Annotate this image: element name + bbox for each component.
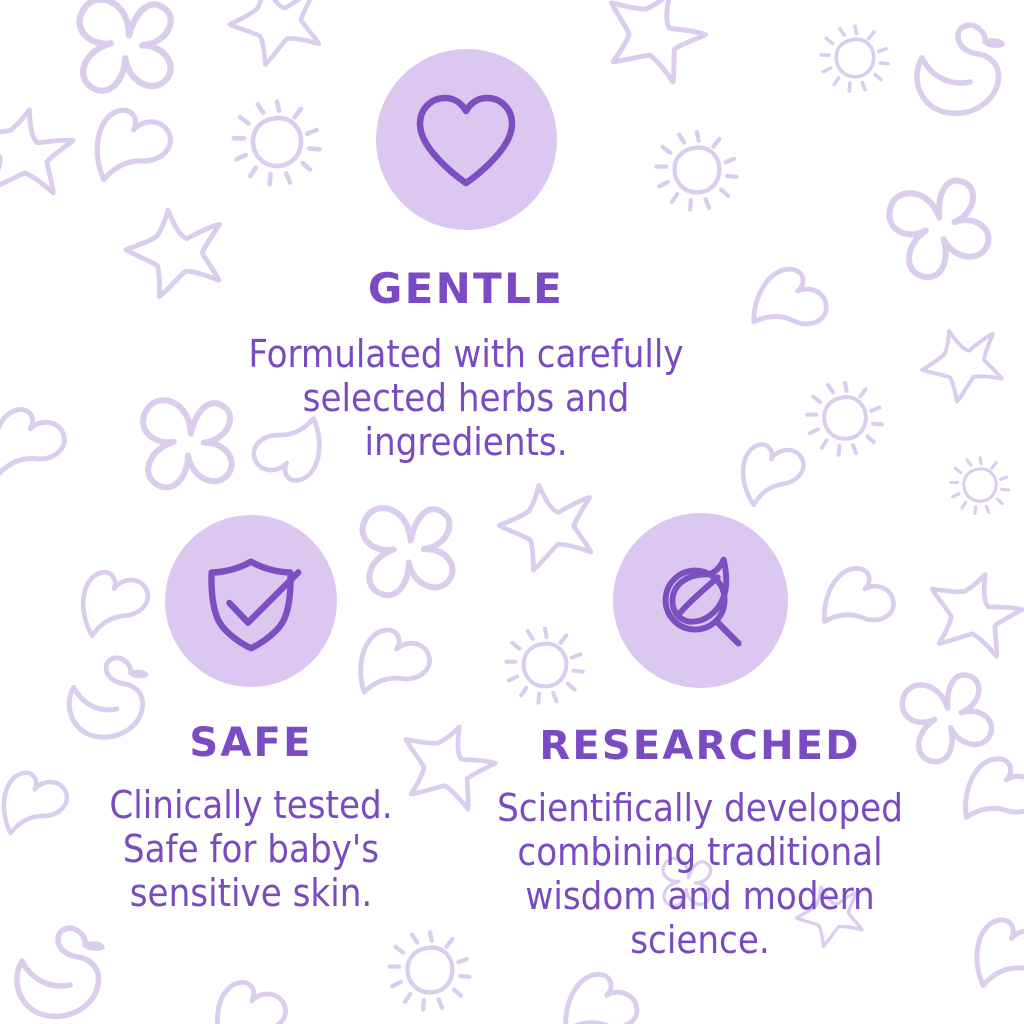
safe-description-line-3: sensitive skin. <box>109 871 392 915</box>
feature-researched: RESEARCHED Scientifically developed comb… <box>470 513 930 962</box>
feature-gentle: GENTLE Formulated with carefully selecte… <box>226 49 706 464</box>
researched-description: Scientifically developed combining tradi… <box>470 786 930 962</box>
gentle-description-line-3: ingredients. <box>248 420 683 464</box>
safe-description-line-1: Clinically tested. <box>109 783 392 827</box>
safe-icon-badge <box>165 515 337 687</box>
researched-description-line-3: wisdom and modern science. <box>470 874 930 962</box>
gentle-description: Formulated with carefully selected herbs… <box>248 332 683 464</box>
gentle-description-line-2: selected herbs and <box>248 376 683 420</box>
gentle-icon-badge <box>376 49 557 230</box>
safe-description-line-2: Safe for baby's <box>109 827 392 871</box>
researched-title: RESEARCHED <box>539 726 860 766</box>
researched-description-line-1: Scientifically developed <box>470 786 930 830</box>
infographic-canvas: GENTLE Formulated with carefully selecte… <box>0 0 1024 1024</box>
safe-title: SAFE <box>189 723 312 763</box>
safe-description: Clinically tested. Safe for baby's sensi… <box>109 783 392 915</box>
researched-description-line-2: combining traditional <box>470 830 930 874</box>
feature-safe: SAFE Clinically tested. Safe for baby's … <box>86 515 416 915</box>
leaf-magnifier-icon <box>641 542 759 660</box>
shield-check-icon <box>192 542 310 660</box>
gentle-description-line-1: Formulated with carefully <box>248 332 683 376</box>
researched-icon-badge <box>613 513 788 688</box>
heart-icon <box>406 80 526 200</box>
gentle-title: GENTLE <box>368 268 564 310</box>
